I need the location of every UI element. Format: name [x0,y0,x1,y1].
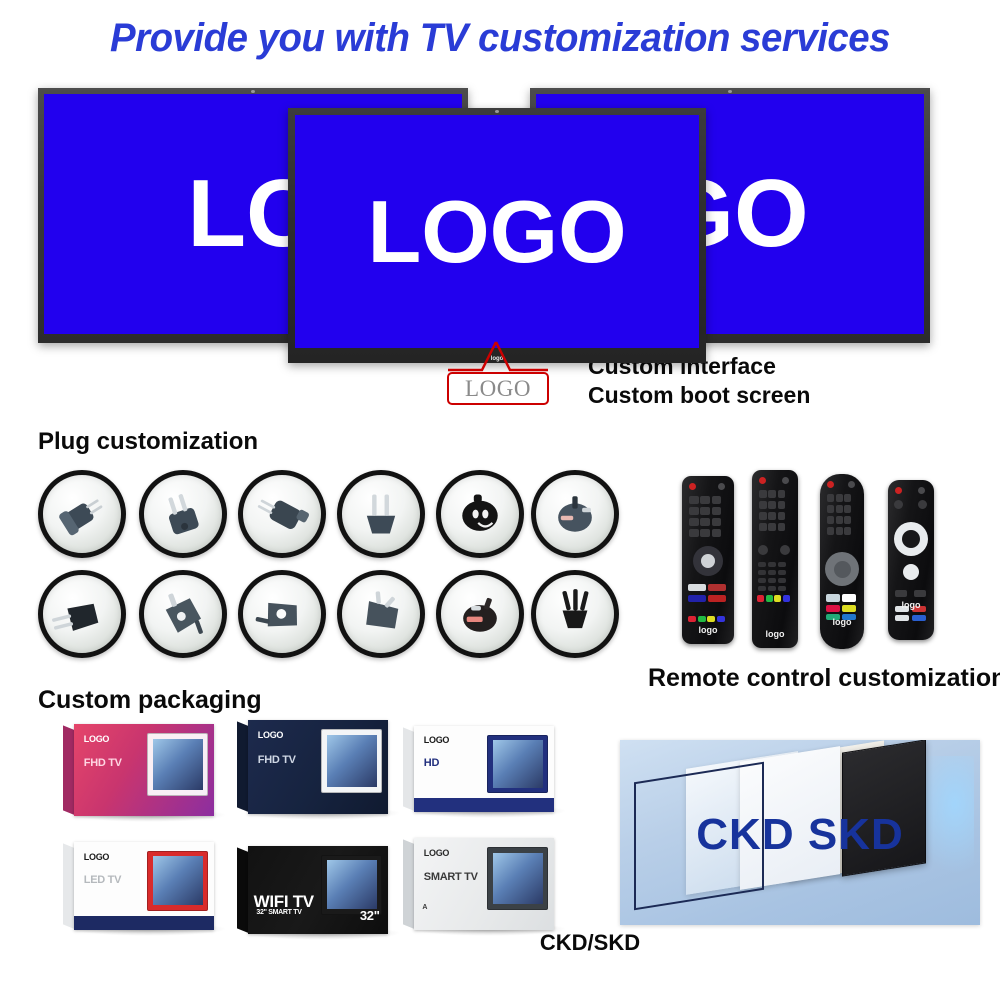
remote-button[interactable] [758,570,766,575]
logo-callout-box: LOGO [447,372,549,405]
remote-button[interactable] [708,584,726,591]
au-type-i-plug-icon [337,570,425,658]
remote-button[interactable] [759,477,766,484]
box-tv-image [487,735,549,793]
box-hd-white-logo-label: LOGO [424,735,449,745]
remote-button[interactable] [778,570,786,575]
remote-button[interactable] [766,595,773,602]
ckd-skd-caption-text: CKD/SKD [540,930,640,956]
remote-button[interactable] [689,496,699,504]
remote-button[interactable] [708,595,726,602]
remote-button[interactable] [700,507,710,515]
ckd-skd-panel: CKD SKD [620,740,980,925]
remote-button[interactable] [688,616,696,622]
remote-button[interactable] [698,616,706,622]
box-front-face: LOGOLED TV [74,842,214,930]
remote-button[interactable] [895,590,907,597]
remote-button[interactable] [844,494,851,502]
tv-screen-center: LOGO logo [288,108,706,363]
box-tv-image [321,855,383,915]
remote-button[interactable] [757,595,764,602]
box-fhd-tv-pink-logo-label: LOGO [84,734,109,744]
remote-button[interactable] [759,501,767,509]
us-type-b-plug-icon [139,470,227,558]
remote-slim-universal-logo-label: logo [752,629,798,639]
remote-button[interactable] [758,586,766,591]
remote-slim-universal[interactable]: logo [752,470,798,648]
remote-button[interactable] [918,500,927,509]
uk-type-g-plug-icon [531,470,619,558]
remote-button[interactable] [894,500,903,509]
remote-button[interactable] [848,481,855,488]
page-title: Provide you with TV customization servic… [20,16,980,61]
tri-pin-black-plug-icon [531,570,619,658]
remote-button[interactable] [783,595,790,602]
remote-button[interactable] [836,527,843,535]
box-wifi-tv-black-size-label: 32" [360,908,380,923]
remote-button[interactable] [844,527,851,535]
box-tv-image [147,733,209,796]
box-fhd-tv-navy-logo-label: LOGO [258,730,283,740]
remote-button[interactable] [774,595,781,602]
remote-button[interactable] [827,527,834,535]
box-fhd-tv-navy-line1-label: FHD TV [258,754,296,766]
remote-button[interactable] [827,481,834,488]
box-fhd-tv-pink: LOGOFHD TV [74,724,214,816]
box-wifi-tv-black: WIFI TV32" SMART TV32" [248,846,388,934]
remote-button[interactable] [758,562,766,567]
remote-button[interactable] [844,505,851,513]
remote-button[interactable] [778,562,786,567]
box-wifi-tv-black-line2-label: 32" SMART TV [256,909,301,916]
remote-button[interactable] [717,616,725,622]
remote-button[interactable] [912,615,926,621]
remote-button[interactable] [844,516,851,524]
remote-button[interactable] [759,512,767,520]
remote-button[interactable] [778,578,786,583]
custom-packaging-caption: Custom packaging [38,686,262,715]
tv-bezel-dot [495,110,499,113]
box-led-tv-white: LOGOLED TV [74,842,214,930]
remote-button[interactable] [759,490,767,498]
remote-button[interactable] [768,570,776,575]
ckd-skd-panel-label: CKD SKD [620,810,980,860]
remote-button[interactable] [903,564,919,580]
remote-button[interactable] [826,605,840,612]
box-smart-tv-silver-line1-label: SMART TV [424,871,478,883]
remote-button[interactable] [768,490,776,498]
remote-control-group: logologologologo [660,466,990,661]
us-flat-plug-icon [337,470,425,558]
remote-button[interactable] [689,483,696,490]
remote-button[interactable] [758,578,766,583]
remote-button[interactable] [895,615,909,621]
remote-button[interactable] [688,595,706,602]
remote-button[interactable] [712,507,722,515]
box-led-tv-white-line1-label: LED TV [84,874,121,886]
remote-button[interactable] [826,594,840,602]
packaging-grid: LOGOFHD TV LOGOFHD TV LOGOHD LOGOLED TV … [52,712,622,937]
remote-button[interactable] [688,584,706,591]
box-smart-tv-silver: LOGOSMART TVA [414,838,554,930]
remote-button[interactable] [689,529,699,537]
custom-boot-screen-line2: Custom boot screen [588,381,810,410]
remote-button[interactable] [778,501,786,509]
remote-button[interactable] [768,523,776,531]
remote-button[interactable] [834,561,851,578]
remote-button[interactable] [707,616,715,622]
box-front-face: LOGOSMART TVA [414,838,554,930]
remote-button[interactable] [712,518,722,526]
box-tv-image [487,847,549,910]
box-front-face: LOGOHD [414,726,554,812]
remote-button[interactable] [778,586,786,591]
us-type-a-plug-icon [38,470,126,558]
uk-fused-plug-icon [436,570,524,658]
remote-button[interactable] [827,505,834,513]
remote-button[interactable] [768,586,776,591]
box-smart-tv-silver-logo-label: LOGO [424,848,449,858]
remote-button[interactable] [700,496,710,504]
remote-button[interactable] [700,529,710,537]
box-smart-tv-silver-line2-label: A [422,904,427,911]
box-hd-white-line1-label: HD [424,757,439,769]
tv-bezel-dot [728,90,732,93]
remote-numeric-keypad-logo-label: logo [682,625,734,635]
remote-button[interactable] [836,516,843,524]
remote-button[interactable] [902,530,920,548]
remote-button[interactable] [689,507,699,515]
box-bottom-band [414,798,554,812]
remote-customization-caption: Remote control customization [648,664,1000,693]
remote-button[interactable] [918,487,925,494]
tv-center-logo-label: LOGO [367,188,626,276]
plug-customization-caption: Plug customization [38,428,258,456]
remote-button[interactable] [759,523,767,531]
remote-button[interactable] [778,512,786,520]
remote-button[interactable] [782,477,789,484]
remote-smart-compact[interactable]: logo [888,480,934,640]
eu-schuko-plug-icon [139,570,227,658]
round-black-plug-icon [436,470,524,558]
eu-type-c-plug-icon [38,570,126,658]
box-front-face: WIFI TV32" SMART TV32" [248,846,388,934]
remote-button[interactable] [689,518,699,526]
box-fhd-tv-pink-line1-label: FHD TV [84,757,122,769]
ckd-skd-caption: CKD/SKD [0,930,1000,956]
remote-button[interactable] [827,494,834,502]
box-front-face: LOGOFHD TV [74,724,214,816]
tv-showcase: LOGO LOGO LOGO logo [0,88,1000,363]
remote-button[interactable] [778,523,786,531]
remote-button[interactable] [712,529,722,537]
box-led-tv-white-logo-label: LOGO [84,852,109,862]
remote-button[interactable] [778,490,786,498]
box-front-face: LOGOFHD TV [248,720,388,814]
remote-button[interactable] [780,545,790,555]
remote-button[interactable] [768,512,776,520]
remote-button[interactable] [836,505,843,513]
remote-button[interactable] [701,554,715,568]
remote-button[interactable] [836,494,843,502]
remote-button[interactable] [712,496,722,504]
box-tv-image [321,729,383,793]
remote-numeric-keypad[interactable]: logo [682,476,734,644]
us-angled-plug-icon [238,470,326,558]
box-hd-white: LOGOHD [414,726,554,812]
remote-button[interactable] [758,545,768,555]
tv-screen-center-panel: LOGO [295,115,699,348]
tv-screen-center-display: LOGO [295,115,699,348]
remote-magic-pointer[interactable]: logo [820,474,864,649]
remote-button[interactable] [895,487,902,494]
remote-button[interactable] [827,516,834,524]
remote-button[interactable] [700,518,710,526]
remote-button[interactable] [842,594,856,602]
remote-magic-pointer-logo-label: logo [820,617,864,627]
remote-smart-compact-logo-label: logo [888,600,934,610]
remote-button[interactable] [768,562,776,567]
box-tv-image [147,851,209,911]
remote-button[interactable] [768,578,776,583]
box-bottom-band [74,916,214,930]
remote-button[interactable] [842,605,856,612]
remote-button[interactable] [768,501,776,509]
remote-button[interactable] [718,483,725,490]
eu-type-f-plug-icon [238,570,326,658]
plug-grid [38,470,618,660]
tv-bezel-dot [251,90,255,93]
remote-button[interactable] [914,590,926,597]
box-fhd-tv-navy: LOGOFHD TV [248,720,388,814]
